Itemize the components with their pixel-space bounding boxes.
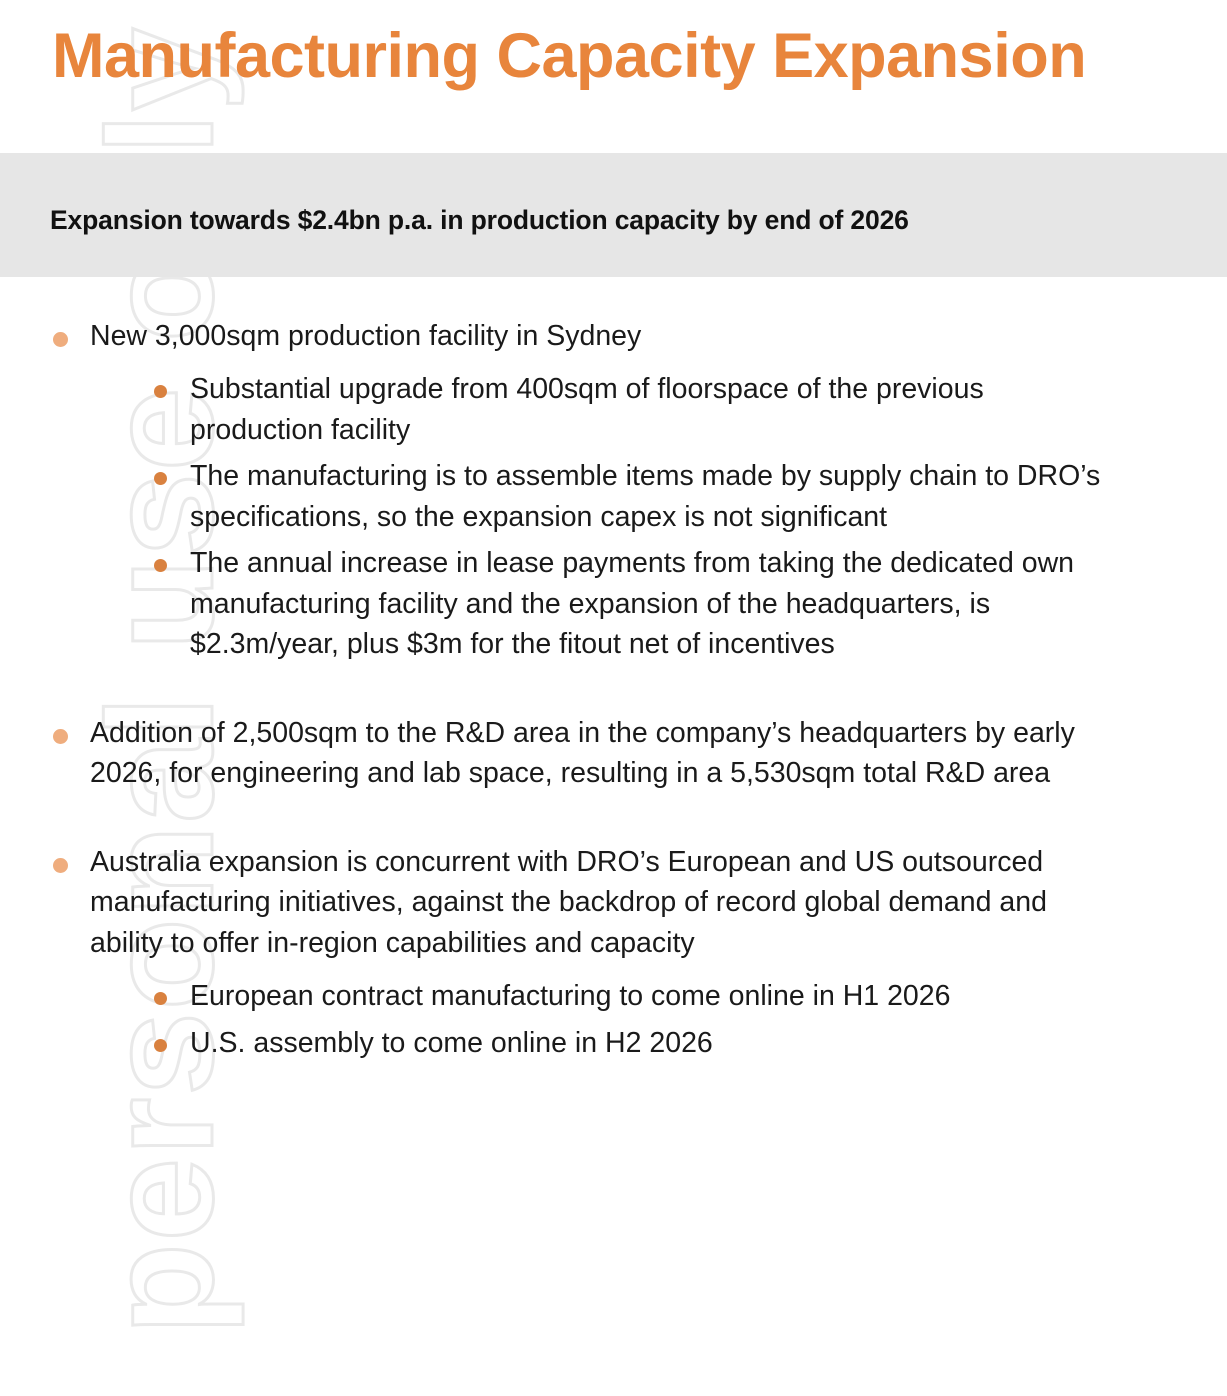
list-item: Substantial upgrade from 400sqm of floor…	[0, 369, 1227, 450]
list-item: U.S. assembly to come online in H2 2026	[0, 1023, 1227, 1063]
page-title: Manufacturing Capacity Expansion	[52, 22, 1172, 91]
bullet-dot-icon	[154, 992, 167, 1005]
bullet-dot-icon	[53, 332, 68, 347]
spacer	[0, 665, 1227, 713]
bullet-dot-icon	[53, 858, 68, 873]
bullet-dot-icon	[154, 472, 167, 485]
spacer	[0, 794, 1227, 842]
list-item-text: The annual increase in lease payments fr…	[190, 547, 1074, 660]
list-item: Addition of 2,500sqm to the R&D area in …	[0, 713, 1227, 794]
subtitle-text: Expansion towards $2.4bn p.a. in product…	[50, 204, 1190, 237]
bullet-dot-icon	[53, 729, 68, 744]
slide: personal use only Manufacturing Capacity…	[0, 0, 1227, 1396]
bullet-dot-icon	[154, 1039, 167, 1052]
list-item: The annual increase in lease payments fr…	[0, 543, 1227, 664]
list-item-text: New 3,000sqm production facility in Sydn…	[90, 320, 641, 352]
list-item: Australia expansion is concurrent with D…	[0, 842, 1227, 963]
list-item-text: The manufacturing is to assemble items m…	[190, 460, 1100, 532]
list-item: The manufacturing is to assemble items m…	[0, 456, 1227, 537]
bullet-dot-icon	[154, 385, 167, 398]
bullet-list: New 3,000sqm production facility in Sydn…	[0, 316, 1227, 1063]
list-item-text: Substantial upgrade from 400sqm of floor…	[190, 373, 984, 445]
list-item-text: European contract manufacturing to come …	[190, 980, 950, 1012]
list-item-text: Australia expansion is concurrent with D…	[90, 846, 1047, 959]
spacer	[0, 356, 1227, 369]
list-item-text: U.S. assembly to come online in H2 2026	[190, 1027, 713, 1059]
list-item: European contract manufacturing to come …	[0, 976, 1227, 1016]
subtitle-band: Expansion towards $2.4bn p.a. in product…	[0, 153, 1227, 277]
list-item: New 3,000sqm production facility in Sydn…	[0, 316, 1227, 356]
list-item-text: Addition of 2,500sqm to the R&D area in …	[90, 717, 1075, 789]
bullet-dot-icon	[154, 559, 167, 572]
spacer	[0, 963, 1227, 976]
